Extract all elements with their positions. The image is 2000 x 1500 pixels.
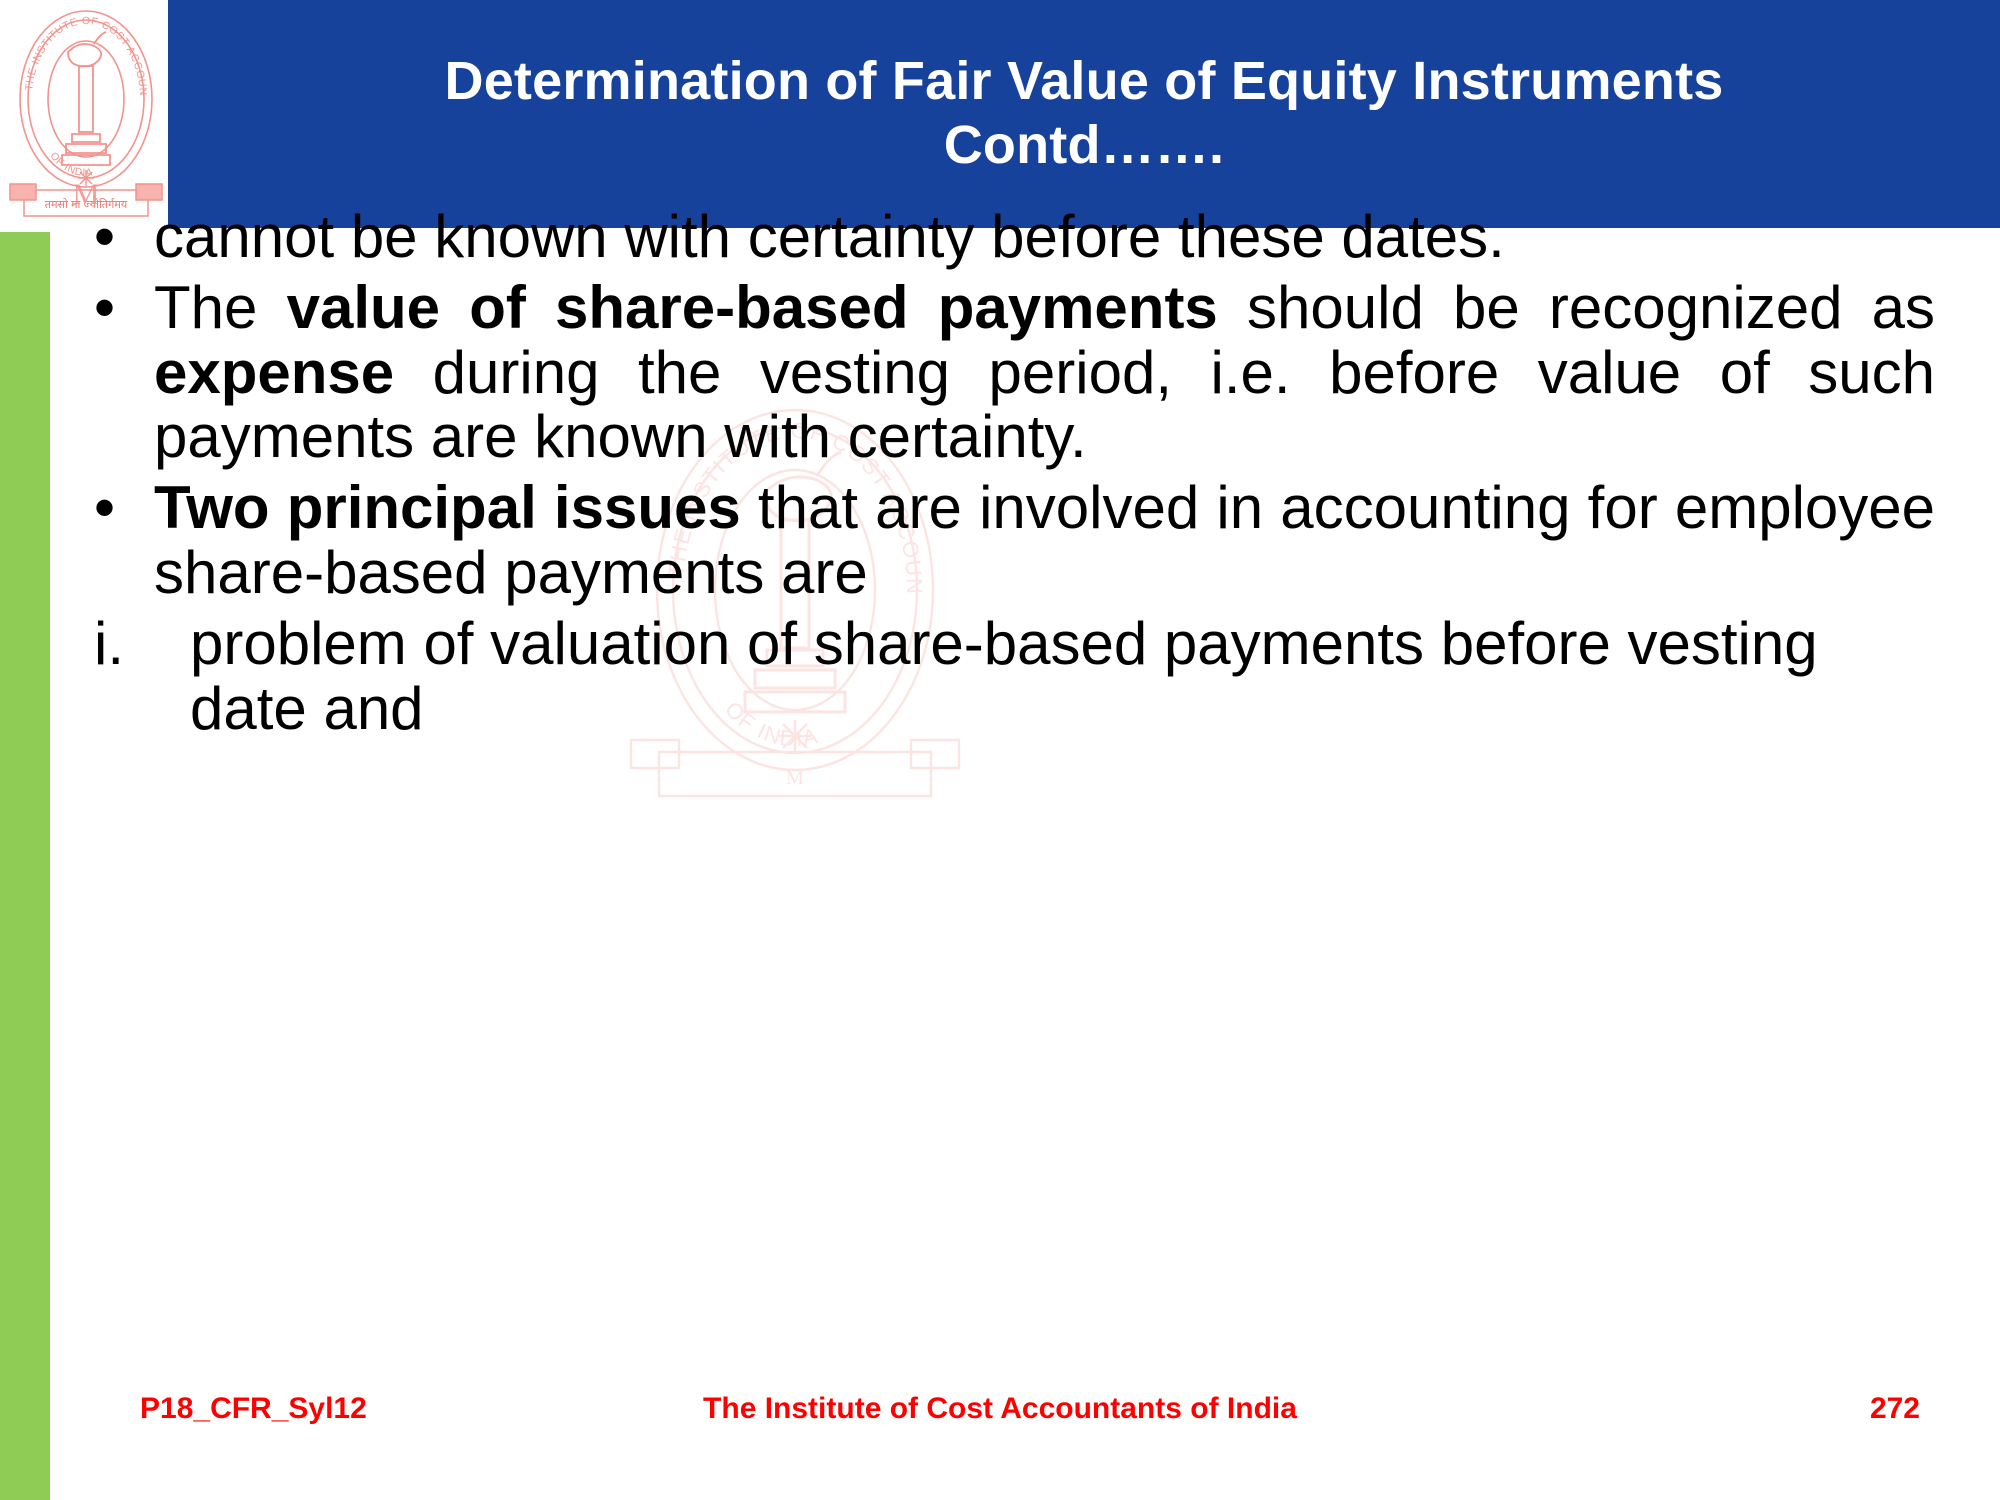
- bullet-marker: •: [80, 276, 154, 341]
- footer-institute-name: The Institute of Cost Accountants of Ind…: [0, 1392, 2000, 1426]
- svg-text:THE INSTITUTE OF COST ACCOUNTA: THE INSTITUTE OF COST ACCOUNTANTS: [6, 4, 149, 96]
- slide-footer: P18_CFR_Syl12 The Institute of Cost Acco…: [0, 1392, 2000, 1452]
- list-item: • cannot be known with certainty before …: [80, 205, 1935, 270]
- list-item: • The value of share-based payments shou…: [80, 276, 1935, 470]
- bullet-text: cannot be known with certainty before th…: [154, 205, 1935, 270]
- bullet-text: Two principal issues that are involved i…: [154, 476, 1935, 606]
- bullet-text: The value of share-based payments should…: [154, 276, 1935, 470]
- slide-title: Determination of Fair Value of Equity In…: [234, 50, 1934, 177]
- list-item: • Two principal issues that are involved…: [80, 476, 1935, 606]
- footer-page-number: 272: [1870, 1392, 1920, 1426]
- bullet-marker: •: [80, 205, 154, 270]
- bullet-marker: •: [80, 476, 154, 541]
- bullet-text: problem of valuation of share-based paym…: [190, 612, 1935, 742]
- roman-marker: i.: [80, 612, 190, 677]
- presentation-slide: THE INSTITUTE OF COST ACCOUNTANTS OF IND…: [0, 0, 2000, 1500]
- slide-body: • cannot be known with certainty before …: [80, 205, 1935, 1325]
- institute-logo: THE INSTITUTE OF COST ACCOUNTANTS OF IND…: [6, 4, 166, 232]
- left-accent-bar: [0, 232, 50, 1500]
- slide-title-band: Determination of Fair Value of Equity In…: [168, 0, 2000, 228]
- institute-seal-icon: THE INSTITUTE OF COST ACCOUNTANTS OF IND…: [6, 4, 166, 232]
- list-item: i. problem of valuation of share-based p…: [80, 612, 1935, 742]
